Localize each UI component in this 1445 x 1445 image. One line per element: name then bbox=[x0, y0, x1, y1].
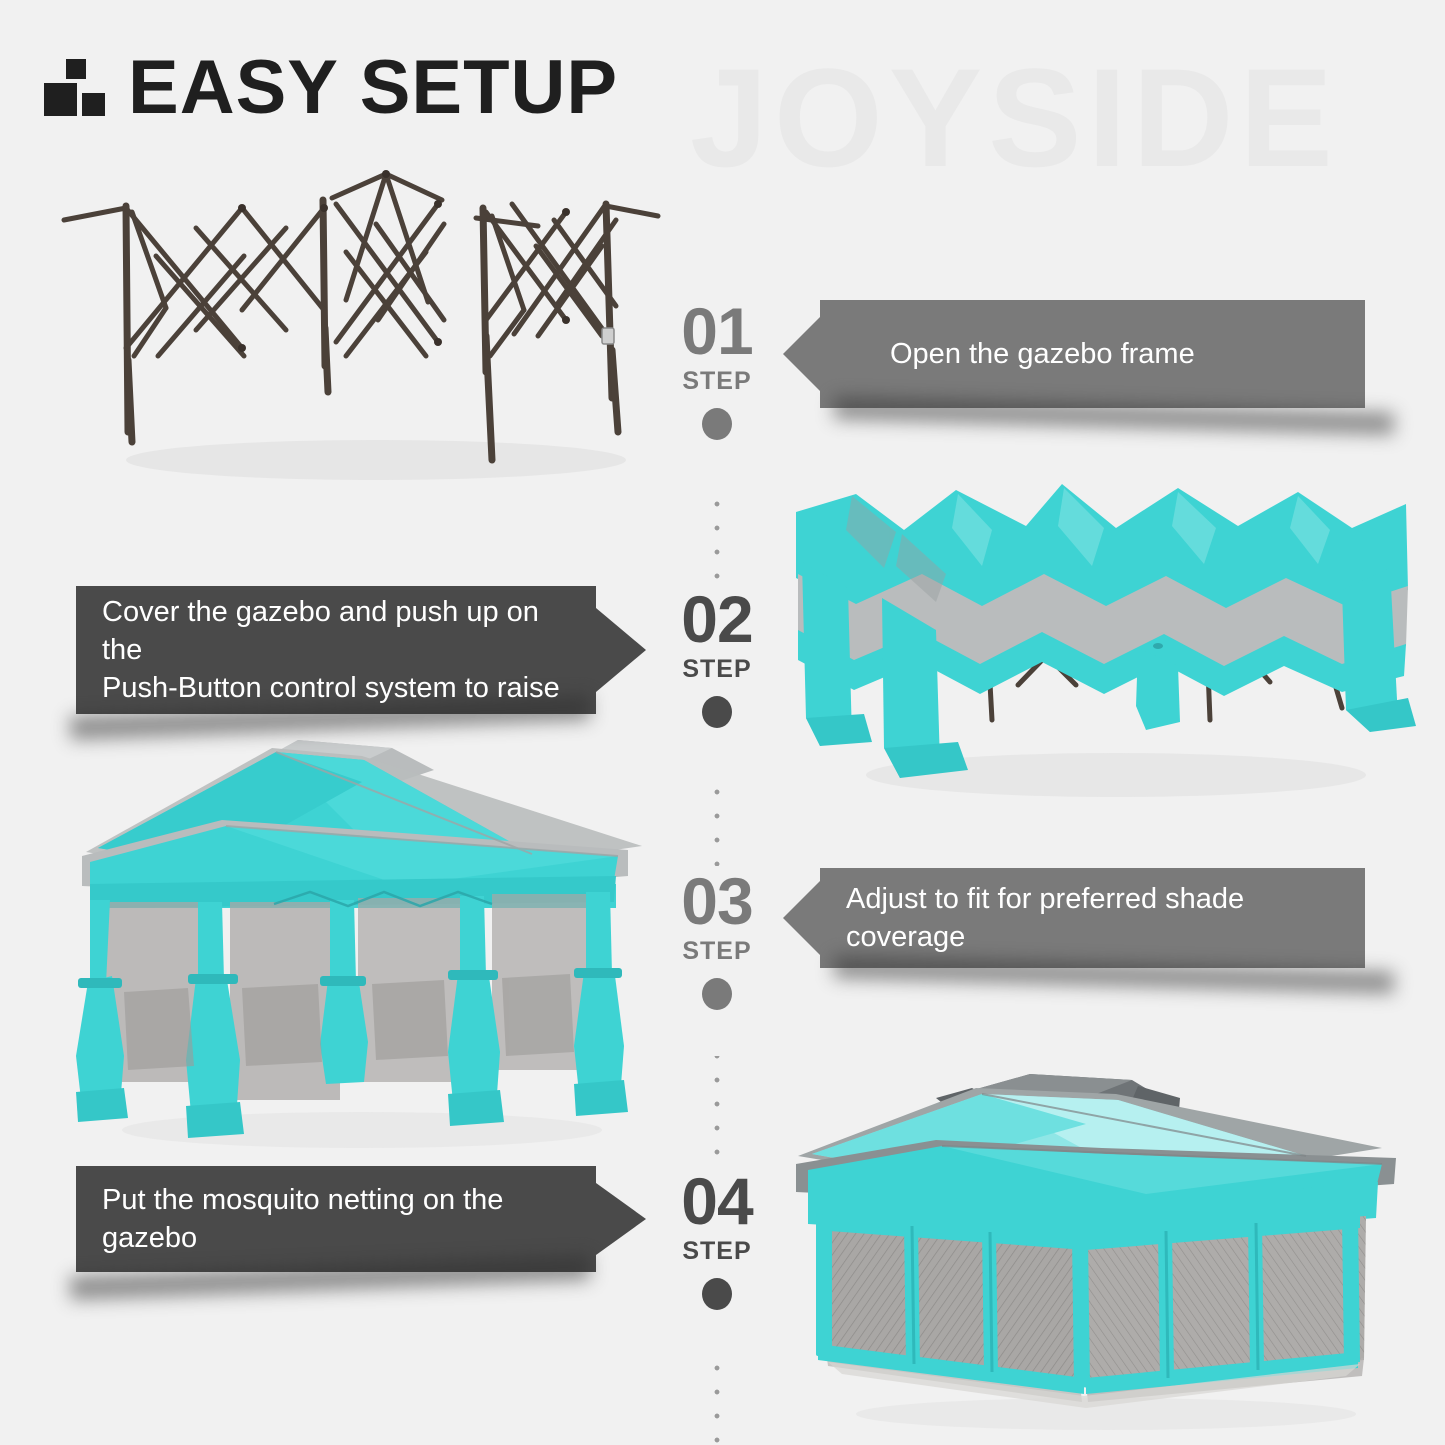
page-title-text: EASY SETUP bbox=[128, 50, 618, 126]
step-callout-text-03: Adjust to fit for preferred shade covera… bbox=[846, 880, 1355, 957]
step-callout-text-01: Open the gazebo frame bbox=[890, 335, 1195, 373]
step-callout-01: Open the gazebo frame bbox=[820, 300, 1365, 408]
step-marker-02: 02 STEP bbox=[642, 588, 792, 728]
step-label-01: STEP bbox=[642, 367, 792, 396]
page-title: EASY SETUP bbox=[44, 50, 618, 126]
step-marker-01: 01 STEP bbox=[642, 300, 792, 440]
gazebo-frame-photo bbox=[46, 160, 676, 490]
step-label-02: STEP bbox=[642, 655, 792, 684]
step-number-01: 01 bbox=[642, 300, 792, 363]
step-marker-04: 04 STEP bbox=[642, 1170, 792, 1310]
step-callout-03: Adjust to fit for preferred shade covera… bbox=[820, 868, 1365, 968]
step-label-04: STEP bbox=[642, 1237, 792, 1266]
gazebo-raised-photo bbox=[62, 726, 662, 1156]
step-callout-04: Put the mosquito netting on the gazebo bbox=[76, 1166, 596, 1272]
three-squares-icon bbox=[44, 57, 106, 119]
step-callout-text-02-line1: Cover the gazebo and push up on the bbox=[102, 593, 580, 670]
step-number-03: 03 bbox=[642, 870, 792, 933]
step-dot-03 bbox=[702, 978, 732, 1010]
step-callout-02: Cover the gazebo and push up on the Push… bbox=[76, 586, 596, 714]
infographic-canvas: JOYSIDE EASY SETUP 01 STEP Open the gaze… bbox=[0, 0, 1445, 1445]
step-marker-03: 03 STEP bbox=[642, 870, 792, 1010]
step-number-02: 02 bbox=[642, 588, 792, 651]
step-callout-text-02-line2: Push-Button control system to raise bbox=[102, 669, 580, 707]
step-label-03: STEP bbox=[642, 937, 792, 966]
step-dot-04 bbox=[702, 1278, 732, 1310]
gazebo-netting-photo bbox=[786, 1064, 1426, 1434]
step-number-04: 04 bbox=[642, 1170, 792, 1233]
step-dot-02 bbox=[702, 696, 732, 728]
step-dot-01 bbox=[702, 408, 732, 440]
gazebo-canopy-draped-photo bbox=[786, 470, 1426, 810]
step-callout-text-04: Put the mosquito netting on the gazebo bbox=[102, 1181, 582, 1258]
brand-watermark: JOYSIDE bbox=[690, 48, 1339, 188]
